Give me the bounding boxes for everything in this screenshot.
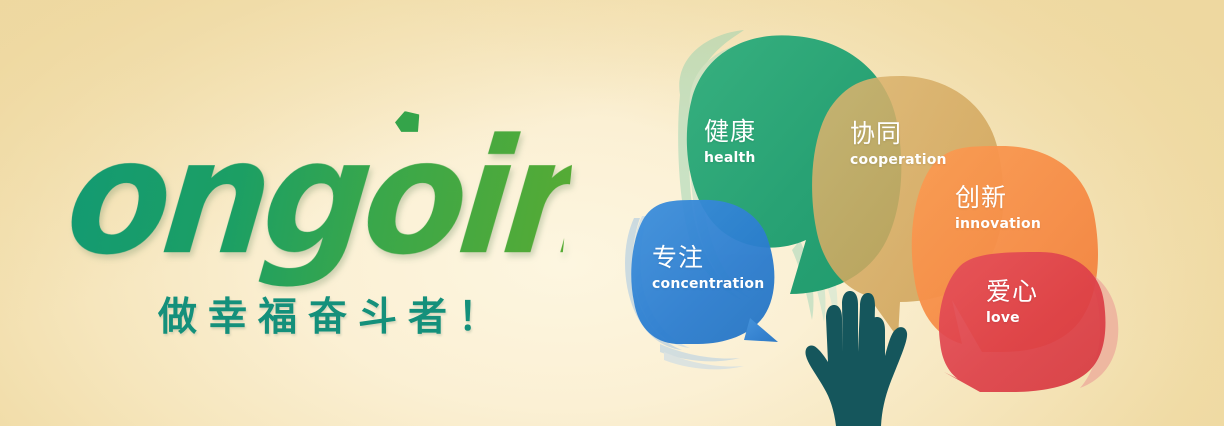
bubble-label-innovation-en: innovation [955, 216, 1041, 232]
bubble-label-love: 爱心 love [986, 272, 1038, 326]
bubble-label-cooperation-cn: 协同 [850, 114, 947, 150]
bubble-label-concentration: 专注 concentration [652, 238, 764, 292]
bubble-label-health: 健康 health [704, 112, 756, 166]
bubble-label-innovation-cn: 创新 [955, 178, 1041, 214]
bubble-label-cooperation: 协同 cooperation [850, 114, 947, 168]
speech-bubble-group: 健康 health 协同 cooperation 创新 innovation 爱… [0, 0, 1224, 426]
bubble-label-love-en: love [986, 310, 1038, 326]
promo-banner: ongoing 做幸福奋斗者！ [0, 0, 1224, 426]
bubble-label-concentration-cn: 专注 [652, 238, 764, 274]
bubble-label-cooperation-en: cooperation [850, 152, 947, 168]
bubble-label-health-cn: 健康 [704, 112, 756, 148]
bubble-label-concentration-en: concentration [652, 276, 764, 292]
bubble-label-health-en: health [704, 150, 756, 166]
bubble-label-love-cn: 爱心 [986, 272, 1038, 308]
bubble-label-innovation: 创新 innovation [955, 178, 1041, 232]
